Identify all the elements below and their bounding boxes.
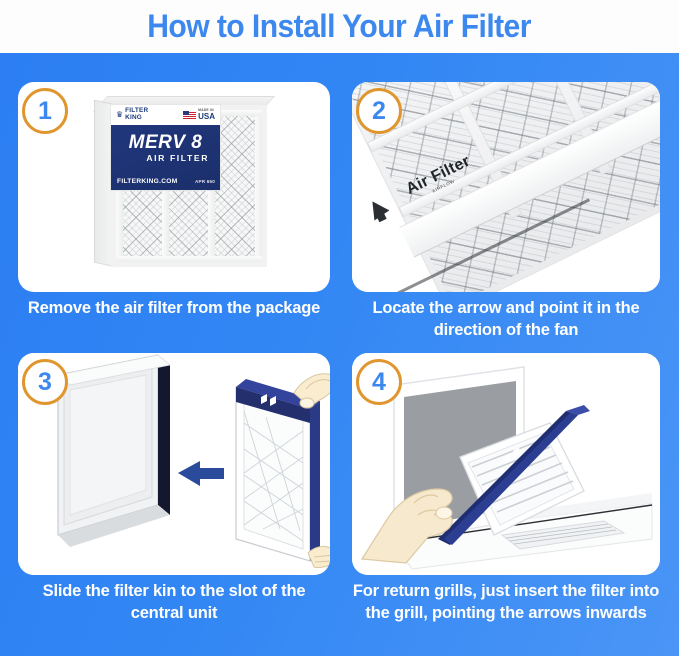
steps-grid: ♛ FILTER KING MADE IN [0,53,679,656]
page-title: How to Install Your Air Filter [148,8,532,45]
website-text: FILTERKING.COM [117,178,178,185]
made-in-usa-lockup: MADE IN USA [183,109,215,120]
made-in-usa-text: MADE IN USA [198,109,215,120]
brand-name: FILTER KING [125,108,148,121]
filter-rib-horizontal [116,256,262,262]
step-number: 3 [38,370,52,395]
step-card-surface: 4 [352,353,660,575]
step-card-1[interactable]: ♛ FILTER KING MADE IN [18,82,330,292]
country-text: USA [198,113,215,121]
infographic-root: How to Install Your Air Filter [0,0,679,656]
crown-icon: ♛ [116,111,123,119]
step-number: 1 [38,99,52,124]
step-card-3[interactable]: 3 [18,353,330,575]
brand-line-2: KING [125,114,142,121]
step-badge-4: 4 [356,359,402,405]
brand-lockup: ♛ FILTER KING [116,108,148,121]
filter-photo: ♛ FILTER KING MADE IN [94,96,270,271]
step-caption-1: Remove the air filter from the package [18,298,330,320]
apr-rating: APR 650 [195,179,215,184]
header: How to Install Your Air Filter [0,0,679,53]
label-top-bar: ♛ FILTER KING MADE IN [111,105,220,125]
filter-type: AIR FILTER [119,153,212,164]
step-number: 4 [372,370,386,395]
label-bottom-row: FILTERKING.COM APR 650 [117,178,215,185]
airflow-arrow-icon [365,197,389,220]
step-number: 2 [372,99,386,124]
step-caption-3: Slide the filter kin to the slot of the … [18,581,330,625]
label-navy-block: MERV 8 AIR FILTER FILTERKING.COM APR 650 [111,125,220,190]
step-badge-2: 2 [356,88,402,134]
merv-rating: MERV 8 [119,133,212,153]
central-unit-housing [58,355,170,547]
insert-direction-arrow-icon [178,461,224,486]
arrow-tail [376,212,386,222]
product-label: ♛ FILTER KING MADE IN [111,105,220,190]
step-caption-2: Locate the arrow and point it in the dir… [352,298,660,342]
step-badge-3: 3 [22,359,68,405]
step-card-surface: 3 [18,353,330,575]
step-caption-4: For return grills, just insert the filte… [352,581,660,625]
step-card-2[interactable]: Air Filter AIRFLOW 2 [352,82,660,292]
filter-rib [255,110,262,262]
usa-flag-icon [183,111,196,119]
step-card-surface: ♛ FILTER KING MADE IN [18,82,330,292]
step-badge-1: 1 [22,88,68,134]
step-card-surface: Air Filter AIRFLOW 2 [352,82,660,292]
step-card-4[interactable]: 4 [352,353,660,575]
